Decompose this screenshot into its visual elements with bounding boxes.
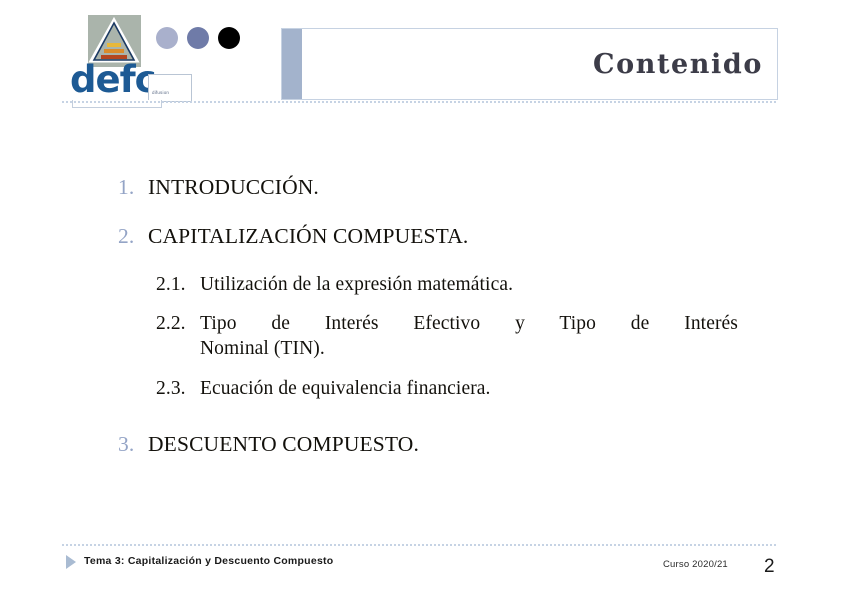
toc-item-1-number: 1.	[118, 174, 134, 201]
toc-item-2-3: 2.3.Ecuación de equivalencia financiera.	[156, 376, 752, 401]
toc-item-2-2: 2.2.Tipo de Interés Efectivo y Tipo de I…	[156, 311, 738, 362]
toc-item-2-1: 2.1.Utilización de la expresión matemáti…	[156, 272, 752, 297]
toc-item-2-1-label: Utilización de la expresión matemática.	[200, 274, 513, 295]
svg-text:defc: defc	[70, 58, 156, 101]
toc-item-2-label: CAPITALIZACIÓN COMPUESTA.	[148, 224, 468, 248]
toc-item-2-3-number: 2.3.	[156, 376, 186, 401]
decor-dot-dark	[218, 27, 240, 49]
toc-item-2-number: 2.	[118, 223, 134, 250]
toc-item-2-1-number: 2.1.	[156, 272, 186, 297]
toc-item-3-label: DESCUENTO COMPUESTO.	[148, 432, 419, 456]
footer-course: Curso 2020/21	[663, 559, 728, 570]
toc-item-2: 2.CAPITALIZACIÓN COMPUESTA.	[112, 223, 752, 250]
slide-title-box: Contenido	[281, 28, 778, 100]
decor-dot-light	[156, 27, 178, 49]
toc-item-2-3-label: Ecuación de equivalencia financiera.	[200, 378, 491, 399]
page-number: 2	[764, 556, 775, 578]
logo-caption-text: difusion	[152, 90, 169, 95]
title-accent-bar	[282, 29, 302, 99]
footer-triangle-icon	[66, 555, 76, 569]
page-title: Contenido	[593, 49, 763, 80]
footer-topic: Tema 3: Capitalización y Descuento Compu…	[84, 555, 333, 567]
toc-item-1: 1.INTRODUCCIÓN.	[112, 174, 752, 201]
decor-dot-medium	[187, 27, 209, 49]
toc-item-3: 3.DESCUENTO COMPUESTO.	[112, 431, 752, 458]
toc-item-2-2-label-line2: Nominal (TIN).	[200, 336, 738, 361]
organization-logo: defc difusion	[70, 12, 190, 104]
slide-canvas: defc difusion Contenido 1.INTRODUCCIÓN. …	[0, 0, 848, 599]
footer-divider	[62, 544, 776, 546]
slide-header: defc difusion Contenido	[0, 0, 848, 104]
toc-item-1-label: INTRODUCCIÓN.	[148, 175, 319, 199]
logo-caption-box	[148, 74, 192, 102]
toc-item-3-number: 3.	[118, 431, 134, 458]
table-of-contents: 1.INTRODUCCIÓN. 2.CAPITALIZACIÓN COMPUES…	[112, 174, 752, 480]
toc-item-2-2-label-line1: Tipo de Interés Efectivo y Tipo de Inter…	[200, 311, 738, 336]
header-divider	[62, 101, 776, 103]
toc-item-2-2-number: 2.2.	[156, 311, 186, 336]
